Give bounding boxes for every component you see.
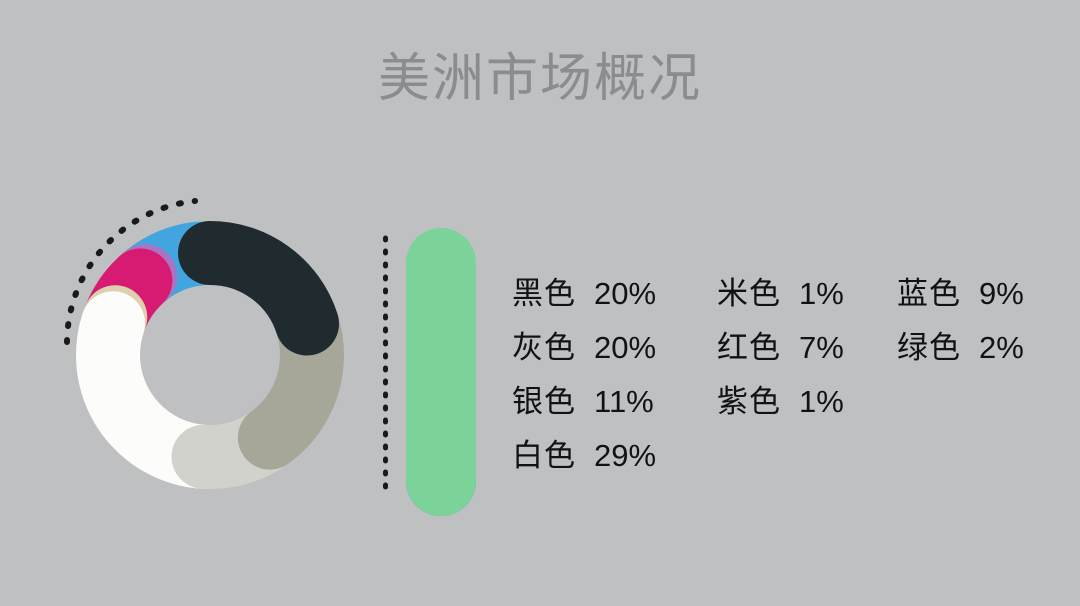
legend-item-label: 白色 [512, 430, 576, 475]
legend-item-0[interactable]: 银色11% [512, 376, 717, 421]
legend-item-value: 11% [594, 384, 654, 420]
legend-item-value: 20% [594, 330, 656, 366]
legend-item-label: 红色 [717, 322, 781, 367]
stacked-bar-svg [370, 222, 490, 522]
legend-item-value: 9% [979, 276, 1024, 312]
donut-chart-svg [45, 190, 375, 520]
legend-item-label: 绿色 [897, 322, 961, 367]
donut-segments[interactable] [108, 253, 312, 457]
donut-chart[interactable] [45, 190, 375, 520]
legend-item-value: 7% [799, 330, 844, 366]
legend-item-label: 黑色 [512, 268, 576, 313]
legend-item-value: 2% [979, 330, 1024, 366]
stacked-bar-segments[interactable] [406, 228, 476, 516]
page-title: 美洲市场概况 [0, 48, 1080, 110]
legend-item-value: 20% [594, 276, 656, 312]
slide-canvas: 美洲市场概况 黑色20%米色1%蓝色9%灰色20%红色7%绿色2%银色11%紫色… [0, 0, 1080, 606]
legend-item-0[interactable]: 白色29% [512, 430, 717, 475]
stacked-bar-chart[interactable] [370, 222, 490, 522]
legend-item-1[interactable]: 红色7% [717, 322, 897, 367]
legend-item-label: 紫色 [717, 376, 781, 421]
legend-item-0[interactable]: 灰色20% [512, 322, 717, 367]
legend-row: 黑色20%米色1%蓝色9% [512, 268, 1057, 322]
legend-item-label: 米色 [717, 268, 781, 313]
legend-item-label: 蓝色 [897, 268, 961, 313]
legend-item-value: 1% [799, 276, 844, 312]
legend-row: 灰色20%红色7%绿色2% [512, 322, 1057, 376]
legend-item-1[interactable]: 米色1% [717, 268, 897, 313]
legend-item-2[interactable]: 绿色2% [897, 322, 1057, 367]
bar-segment-绿色[interactable] [406, 228, 476, 516]
legend-item-label: 银色 [512, 376, 576, 421]
legend-item-label: 灰色 [512, 322, 576, 367]
legend: 黑色20%米色1%蓝色9%灰色20%红色7%绿色2%银色11%紫色1%白色29% [512, 268, 1057, 484]
legend-item-value: 1% [799, 384, 844, 420]
legend-item-1[interactable]: 紫色1% [717, 376, 897, 421]
legend-item-0[interactable]: 黑色20% [512, 268, 717, 313]
legend-item-2[interactable]: 蓝色9% [897, 268, 1057, 313]
legend-item-value: 29% [594, 438, 656, 474]
legend-row: 白色29% [512, 430, 1057, 484]
legend-row: 银色11%紫色1% [512, 376, 1057, 430]
